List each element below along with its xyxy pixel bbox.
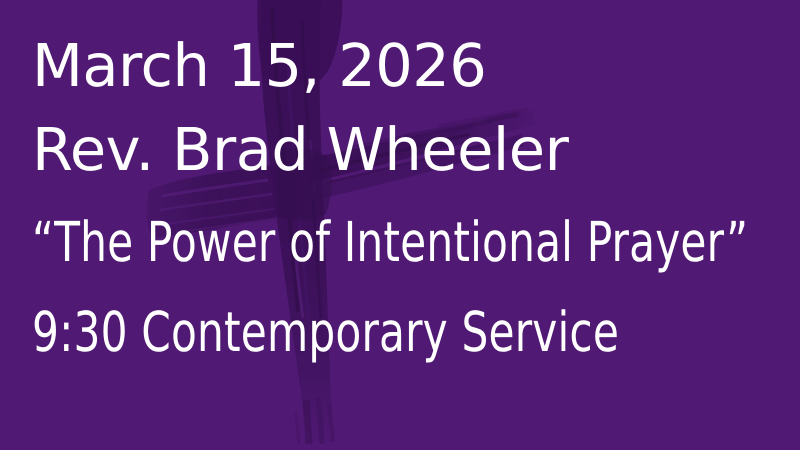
service-date: March 15, 2026: [32, 36, 486, 95]
sermon-title: “The Power of Intentional Prayer”: [32, 215, 748, 270]
service-time-and-type: 9:30 Contemporary Service: [32, 305, 619, 360]
speaker-name: Rev. Brad Wheeler: [32, 120, 568, 179]
worship-slide: March 15, 2026 Rev. Brad Wheeler “The Po…: [0, 0, 800, 450]
slide-text-block: March 15, 2026 Rev. Brad Wheeler “The Po…: [0, 0, 800, 450]
